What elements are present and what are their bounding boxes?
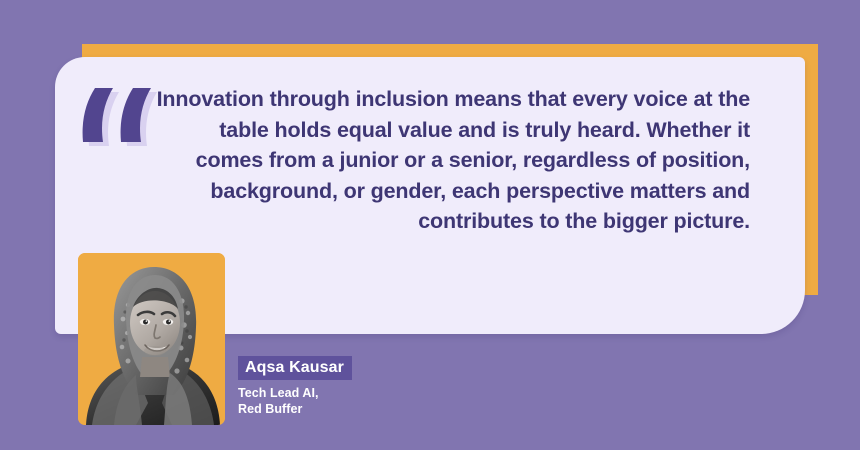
avatar [78,253,225,425]
speaker-name-badge: Aqsa Kausar [238,356,352,380]
speaker-organization: Red Buffer [238,402,498,418]
attribution-block: Aqsa Kausar Tech Lead AI, Red Buffer [238,356,498,417]
quote-card-graphic: Innovation through inclusion means that … [0,0,860,450]
portrait-frame [78,253,225,425]
speaker-role-block: Tech Lead AI, Red Buffer [238,386,498,417]
speaker-role: Tech Lead AI, [238,386,498,402]
quote-text: Innovation through inclusion means that … [150,84,750,237]
